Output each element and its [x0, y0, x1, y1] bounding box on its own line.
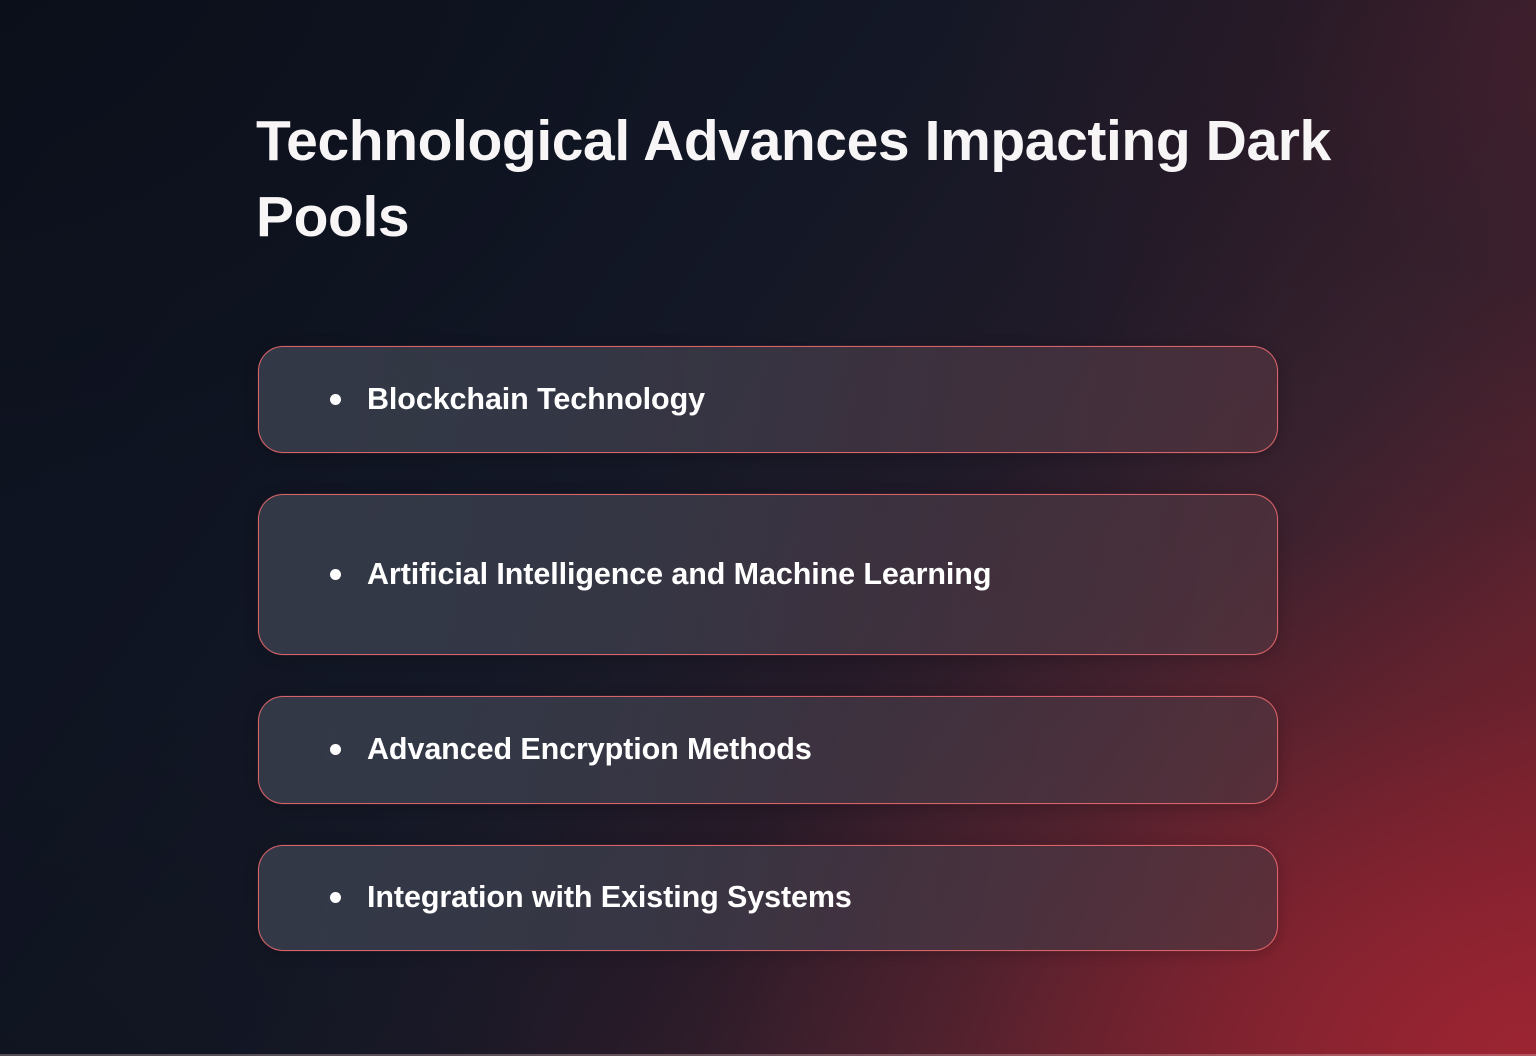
bullet-row: Artificial Intelligence and Machine Lear… — [259, 553, 1277, 596]
bullet-dot-icon — [330, 569, 341, 580]
bullet-dot-icon — [330, 892, 341, 903]
bullet-card-label: Integration with Existing Systems — [367, 876, 852, 919]
bullet-card-label: Artificial Intelligence and Machine Lear… — [367, 553, 991, 596]
slide-canvas: Technological Advances Impacting Dark Po… — [0, 0, 1536, 1056]
bullet-dot-icon — [330, 394, 341, 405]
bullet-row: Advanced Encryption Methods — [259, 728, 1277, 771]
bullet-card-list: Blockchain Technology Artificial Intelli… — [258, 346, 1278, 951]
bullet-card-blockchain-technology[interactable]: Blockchain Technology — [258, 346, 1278, 453]
bullet-card-label: Blockchain Technology — [367, 378, 705, 421]
bullet-card-artificial-intelligence-and-machine-learning[interactable]: Artificial Intelligence and Machine Lear… — [258, 494, 1278, 655]
bullet-row: Integration with Existing Systems — [259, 876, 1277, 919]
slide-content: Technological Advances Impacting Dark Po… — [0, 0, 1536, 1056]
bullet-card-integration-with-existing-systems[interactable]: Integration with Existing Systems — [258, 845, 1278, 951]
bullet-dot-icon — [330, 744, 341, 755]
bullet-row: Blockchain Technology — [259, 378, 1277, 421]
page-title: Technological Advances Impacting Dark Po… — [256, 104, 1436, 256]
bullet-card-label: Advanced Encryption Methods — [367, 728, 812, 771]
bullet-card-advanced-encryption-methods[interactable]: Advanced Encryption Methods — [258, 696, 1278, 804]
